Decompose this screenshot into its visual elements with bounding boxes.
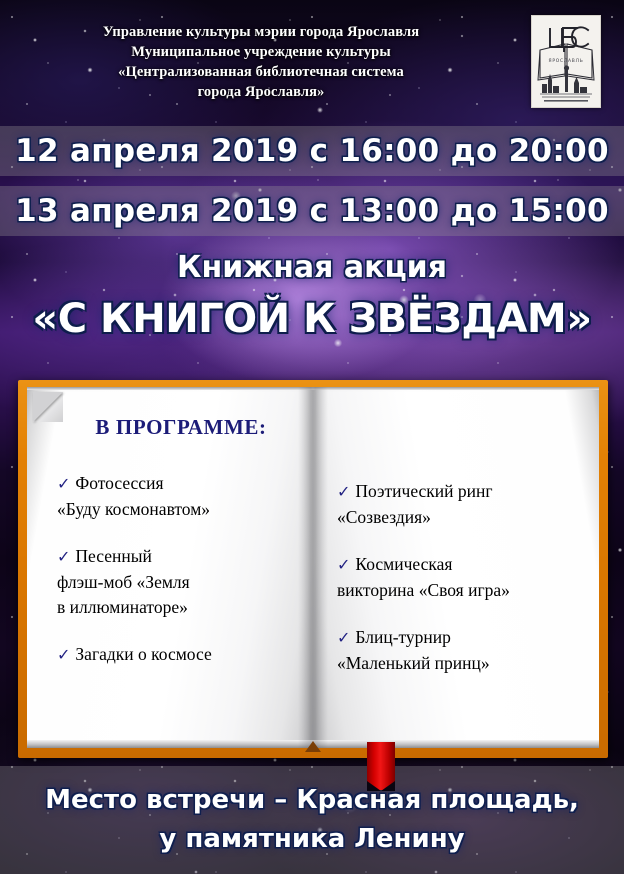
meeting-place-line-2: у памятника Ленину bbox=[0, 820, 624, 859]
page-edge-top bbox=[27, 387, 313, 390]
program-item-line: «Созвездия» bbox=[337, 505, 591, 530]
program-item-text: Блиц-турнир bbox=[355, 627, 451, 647]
check-icon: ✓ bbox=[57, 647, 70, 664]
open-book-graphic: В ПРОГРАММЕ: ✓Фотосессия «Буду космонавт… bbox=[18, 380, 608, 758]
check-icon: ✓ bbox=[337, 630, 350, 647]
program-item-line: ✓Блиц-турнир bbox=[337, 625, 591, 651]
program-item-text: Загадки о космосе bbox=[75, 644, 211, 664]
organization-line-3: «Централизованная библиотечная система bbox=[46, 62, 476, 82]
program-item-line: ✓Космическая bbox=[337, 552, 591, 578]
program-item-line: ✓Загадки о космосе bbox=[57, 642, 305, 668]
meeting-place-block: Место встречи – Красная площадь, у памят… bbox=[0, 781, 624, 859]
organization-block: Управление культуры мэрии города Ярослав… bbox=[46, 22, 476, 102]
list-item: ✓Космическая викторина «Своя игра» bbox=[337, 552, 591, 603]
book-page-right: ✓Поэтический ринг «Созвездия» ✓Космическ… bbox=[313, 387, 599, 748]
svg-text:ЯРОСЛАВЛЬ: ЯРОСЛАВЛЬ bbox=[548, 58, 583, 64]
date-line-2: 13 апреля 2019 с 13:00 до 15:00 bbox=[0, 193, 624, 229]
library-logo: ЯРОСЛАВЛЬ bbox=[531, 15, 601, 108]
list-item: ✓Фотосессия «Буду космонавтом» bbox=[57, 471, 305, 522]
list-item: ✓Песенный флэш-моб «Земля в иллюминаторе… bbox=[57, 544, 305, 620]
check-icon: ✓ bbox=[57, 549, 70, 566]
page-edge-bottom bbox=[27, 740, 313, 748]
event-kicker: Книжная акция bbox=[0, 250, 624, 285]
organization-line-2: Муниципальное учреждение культуры bbox=[46, 42, 476, 62]
program-item-line: «Буду космонавтом» bbox=[57, 497, 305, 522]
program-item-line: ✓Фотосессия bbox=[57, 471, 305, 497]
poster-root: Управление культуры мэрии города Ярослав… bbox=[0, 0, 624, 874]
program-item-line: в иллюминаторе» bbox=[57, 595, 305, 620]
book-pages: В ПРОГРАММЕ: ✓Фотосессия «Буду космонавт… bbox=[27, 387, 599, 748]
page-left-surface: В ПРОГРАММЕ: ✓Фотосессия «Буду космонавт… bbox=[27, 387, 313, 748]
program-item-text: Песенный bbox=[75, 546, 151, 566]
event-title: «С КНИГОЙ К ЗВЁЗДАМ» bbox=[0, 296, 624, 342]
check-icon: ✓ bbox=[57, 476, 70, 493]
program-item-text: Фотосессия bbox=[75, 473, 163, 493]
program-item-line: «Маленький принц» bbox=[337, 651, 591, 676]
program-item-line: флэш-моб «Земля bbox=[57, 570, 305, 595]
poster-header: Управление культуры мэрии города Ярослав… bbox=[0, 0, 624, 122]
program-item-line: ✓Песенный bbox=[57, 544, 305, 570]
program-item-text: Космическая bbox=[355, 554, 452, 574]
page-right-surface: ✓Поэтический ринг «Созвездия» ✓Космическ… bbox=[313, 387, 599, 748]
program-item-text: Поэтический ринг bbox=[355, 481, 492, 501]
book-page-left: В ПРОГРАММЕ: ✓Фотосессия «Буду космонавт… bbox=[27, 387, 313, 748]
list-item: ✓Блиц-турнир «Маленький принц» bbox=[337, 625, 591, 676]
program-list-right: ✓Поэтический ринг «Созвездия» ✓Космическ… bbox=[337, 479, 591, 698]
date-line-1: 12 апреля 2019 с 16:00 до 20:00 bbox=[0, 133, 624, 169]
list-item: ✓Поэтический ринг «Созвездия» bbox=[337, 479, 591, 530]
program-heading: В ПРОГРАММЕ: bbox=[27, 415, 313, 440]
page-edge-top bbox=[313, 387, 599, 390]
bookmark-ribbon-icon bbox=[367, 742, 395, 790]
meeting-place-line-1: Место встречи – Красная площадь, bbox=[0, 781, 624, 820]
check-icon: ✓ bbox=[337, 484, 350, 501]
organization-line-4: города Ярославля» bbox=[46, 82, 476, 102]
program-list-left: ✓Фотосессия «Буду космонавтом» ✓Песенный… bbox=[57, 471, 305, 690]
program-item-line: викторина «Своя игра» bbox=[337, 578, 591, 603]
check-icon: ✓ bbox=[337, 557, 350, 574]
cbs-monogram-icon: ЯРОСЛАВЛЬ bbox=[532, 16, 600, 107]
list-item: ✓Загадки о космосе bbox=[57, 642, 305, 668]
page-edge-bottom bbox=[313, 740, 599, 748]
organization-line-1: Управление культуры мэрии города Ярослав… bbox=[46, 22, 476, 42]
program-item-line: ✓Поэтический ринг bbox=[337, 479, 591, 505]
